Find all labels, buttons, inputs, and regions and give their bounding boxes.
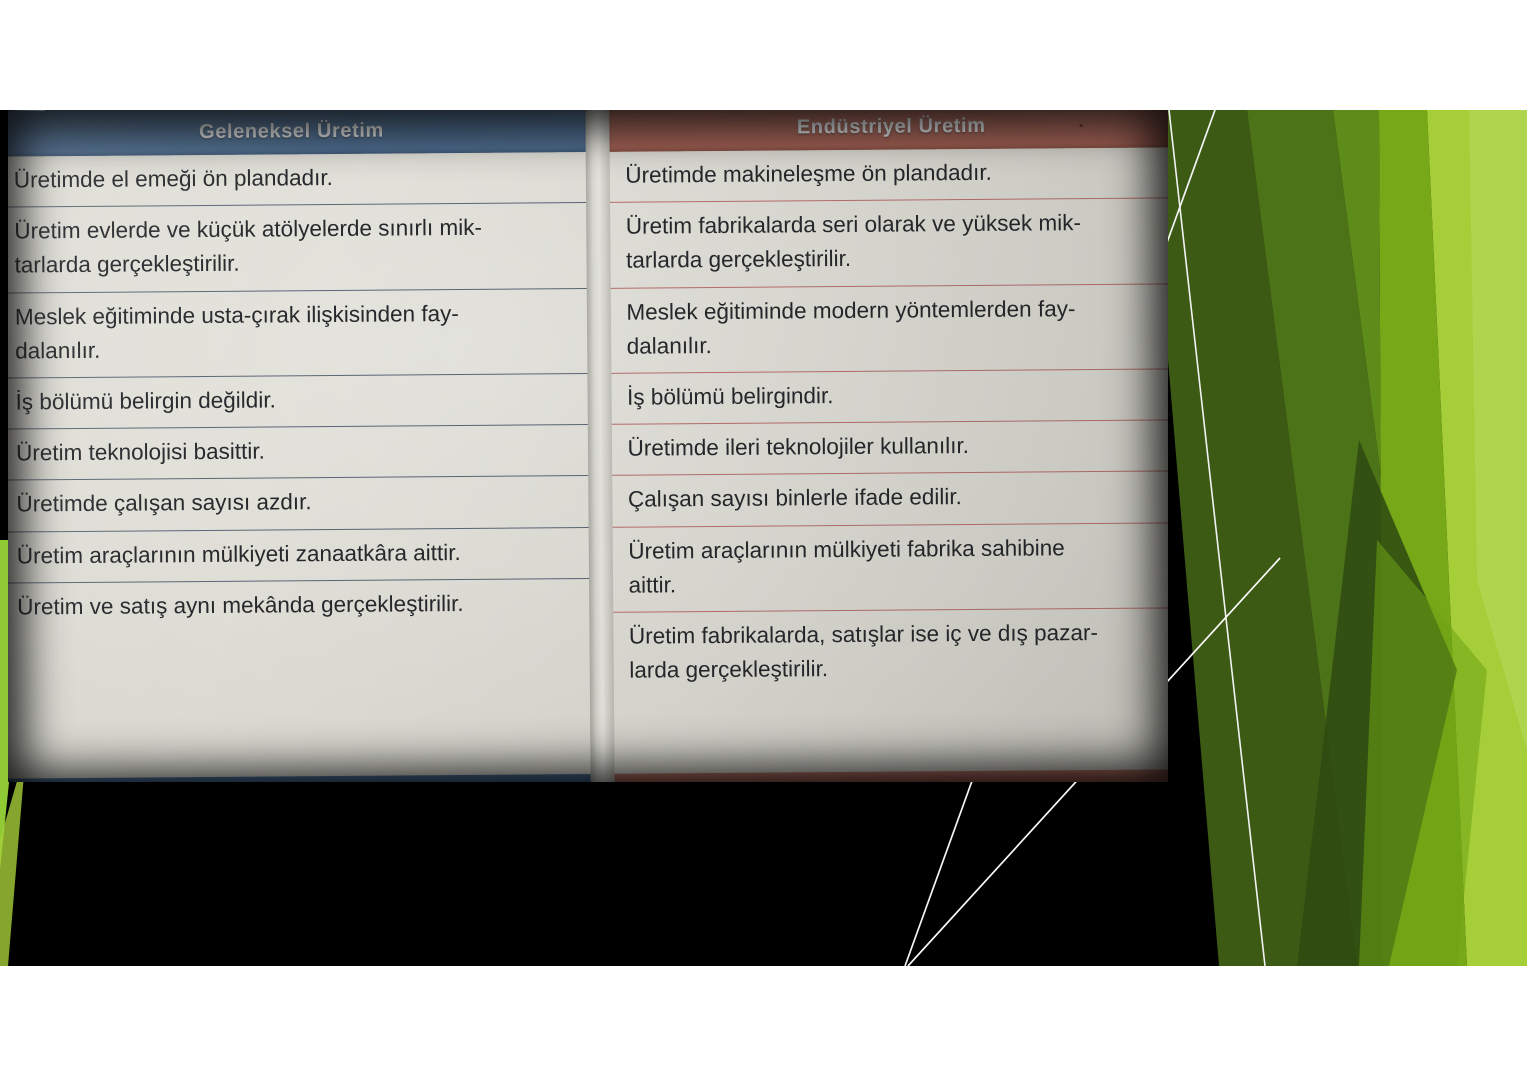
column-footer-industrial — [614, 769, 1168, 782]
table-column-industrial: Endüstriyel Üretim Üretimde makineleşme … — [609, 110, 1168, 782]
table-row: Meslek eğitiminde modern yöntemlerden fa… — [610, 284, 1168, 374]
table-row: Üretim ve satış aynı mekânda gerçekleşti… — [8, 579, 589, 634]
table-row: Üretim fabrikalarda seri olarak ve yükse… — [610, 199, 1168, 289]
column-header-industrial: Endüstriyel Üretim — [609, 110, 1168, 152]
table-row: Üretimde ileri teknolojiler kullanılır. — [611, 421, 1168, 477]
table-row: İş bölümü belirgindir. — [611, 369, 1168, 425]
table-column-traditional: Geleneksel Üretim Üretimde el emeği ön p… — [8, 110, 591, 782]
table-row: İş bölümü belirgin değildir. — [8, 374, 588, 430]
table-row: Üretim teknolojisi basittir. — [8, 425, 588, 481]
textbook-photo: Geleneksel Üretim Üretimde el emeği ön p… — [8, 110, 1168, 782]
comparison-table: Geleneksel Üretim Üretimde el emeği ön p… — [8, 110, 1168, 782]
table-row: Meslek eğitiminde usta-çırak ilişkisinde… — [8, 289, 587, 379]
table-row: Üretim evlerde ve küçük atölyelerde sını… — [8, 203, 587, 293]
table-row: Çalışan sayısı binlerle ifade edilir. — [612, 472, 1168, 528]
table-row: Üretim fabrikalarda, satışlar ise iç ve … — [613, 608, 1168, 697]
table-row: Üretimde çalışan sayısı azdır. — [8, 476, 589, 532]
column-header-traditional: Geleneksel Üretim — [8, 110, 586, 157]
paper-speck-icon — [1079, 124, 1082, 127]
table-row: Üretimde makineleşme ön plandadır. — [609, 147, 1168, 203]
textbook-page: Geleneksel Üretim Üretimde el emeği ön p… — [8, 110, 1168, 782]
table-row: Üretim araçlarının mülkiyeti zanaatkâra … — [8, 527, 589, 583]
column-header-industrial-label: Endüstriyel Üretim — [797, 114, 986, 138]
presentation-slide: Geleneksel Üretim Üretimde el emeği ön p… — [0, 110, 1527, 966]
table-row: Üretim araçlarının mülkiyeti fabrika sah… — [612, 523, 1168, 613]
rows-traditional: Üretimde el emeği ön plandadır. Üretim e… — [8, 152, 589, 633]
rows-industrial: Üretimde makineleşme ön plandadır. Üreti… — [609, 147, 1168, 697]
table-row: Üretimde el emeği ön plandadır. — [8, 152, 586, 208]
column-footer-traditional — [8, 774, 591, 782]
